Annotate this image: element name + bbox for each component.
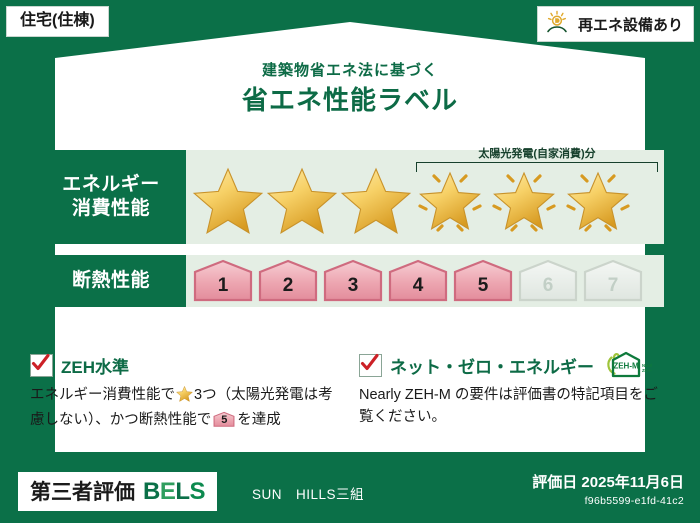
zeh-criterion-header: ZEH水準 [30,352,341,378]
insulation-grade-number: 3 [322,276,384,295]
insulation-grade-scale: 1 2 3 [186,259,644,303]
building-type-tag: 住宅(住棟) [6,6,109,37]
inline-insulation-house-number: 5 [213,415,235,426]
renewable-energy-label: 再エネ設備あり [578,14,683,35]
star-item-solar [562,158,634,236]
svg-text:ZEH-M: ZEH-M [613,362,639,371]
star-item-solar [414,158,486,236]
bels-jp-label: 第三者評価 [30,476,135,506]
footer-bar: 第三者評価 BELS SUN HILLS三組 評価日 2025年11月6日 f9… [0,461,700,523]
insulation-grade-item: 4 [387,259,449,303]
zeh-criterion-body: エネルギー消費性能で3つ（太陽光発電は考慮しない）、かつ断熱性能で5を達成 [30,384,341,432]
label-subtitle: 建築物省エネ法に基づく [0,62,700,80]
zeh-criterion-title: ZEH水準 [61,353,129,378]
insulation-performance-row: 断熱性能 [36,255,664,307]
insulation-grade-item: 6 [517,259,579,303]
bels-logo-text: BELS [143,478,205,506]
insulation-performance-label: 断熱性能 [72,269,150,293]
building-type-label: 住宅(住棟) [20,12,95,29]
insulation-grade-number: 4 [387,276,449,295]
zeh-checkbox[interactable] [30,354,53,377]
energy-performance-label-box: エネルギー 消費性能 [36,150,186,244]
zeh-body-post: を達成 [237,412,281,428]
insulation-grade-item: 7 [582,259,644,303]
bels-certification-badge: 第三者評価 BELS [18,472,217,511]
insulation-grade-item: 5 [452,259,514,303]
svg-text:ZEH-M: ZEH-M [642,368,652,373]
evaluation-info: 評価日 2025年11月6日 f96b5599-e1fd-41c2 [532,471,684,507]
renewable-energy-badge: 再エネ設備あり [537,6,694,42]
insulation-performance-label-box: 断熱性能 [36,255,186,307]
insulation-grade-item: 1 [192,259,254,303]
criteria-section: ZEH水準 エネルギー消費性能で3つ（太陽光発電は考慮しない）、かつ断熱性能で5… [30,352,670,432]
page-title: 省エネ性能ラベル [0,85,700,116]
property-name: SUN HILLS三組 [252,483,364,503]
zeh-m-logo-icon: ZEH-M Nearly ZEH-M [606,350,652,380]
zeh-criterion: ZEH水準 エネルギー消費性能で3つ（太陽光発電は考慮しない）、かつ断熱性能で5… [30,352,341,432]
energy-performance-label: 住宅(住棟) 再エネ設備あり 建築物省エネ法に基づく 省エネ性能ラベル [0,0,700,523]
energy-performance-panel: 太陽光発電(自家消費)分 [186,150,664,244]
insulation-grade-item: 3 [322,259,384,303]
evaluation-date: 評価日 2025年11月6日 [532,471,684,492]
insulation-performance-panel: 1 2 3 [186,255,664,307]
star-item [340,158,412,236]
nzeb-criterion-body: Nearly ZEH-M の要件は評価書の特記項目をご覧ください。 [359,384,670,429]
zeh-body-pre: エネルギー消費性能で [30,387,175,403]
insulation-grade-number: 7 [582,276,644,295]
inline-insulation-house-icon: 5 [213,411,235,428]
nzeb-criterion: ネット・ゼロ・エネルギー ZEH-M Nearly ZEH-M Nearly Z… [359,352,670,432]
energy-performance-label-line1: エネルギー [62,173,160,197]
star-item [266,158,338,236]
evaluation-id: f96b5599-e1fd-41c2 [532,495,684,507]
star-item [192,158,264,236]
nzeb-criterion-title: ネット・ゼロ・エネルギー [390,353,594,378]
sun-icon [546,10,572,39]
insulation-grade-number: 2 [257,276,319,295]
page-title-block: 建築物省エネ法に基づく 省エネ性能ラベル [0,62,700,116]
energy-performance-label-line2: 消費性能 [72,197,150,221]
star-rating [186,158,664,236]
insulation-grade-number: 5 [452,276,514,295]
nzeb-criterion-header: ネット・ゼロ・エネルギー ZEH-M Nearly ZEH-M [359,352,670,378]
star-item-solar [488,158,560,236]
metrics-section: エネルギー 消費性能 [36,150,664,318]
insulation-grade-item: 2 [257,259,319,303]
insulation-grade-number: 1 [192,276,254,295]
nzeb-checkbox[interactable] [359,354,382,377]
inline-star-icon [176,385,193,409]
insulation-grade-number: 6 [517,276,579,295]
energy-performance-row: エネルギー 消費性能 [36,150,664,244]
